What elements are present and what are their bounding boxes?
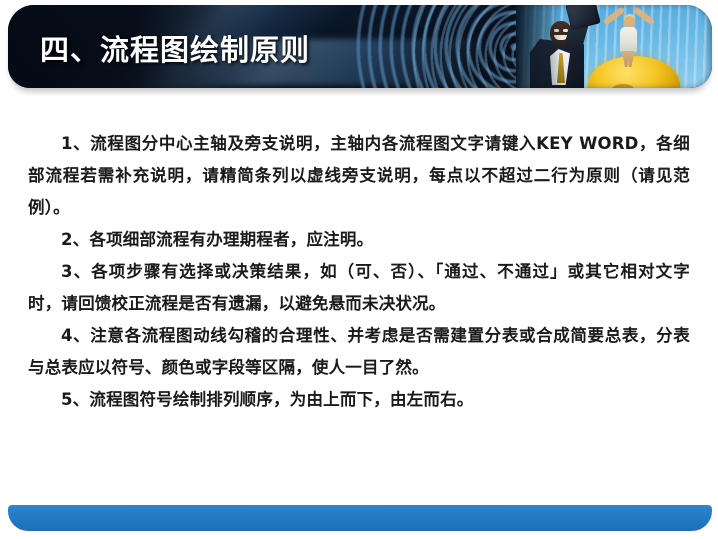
woman-body bbox=[620, 27, 637, 53]
header-photo bbox=[516, 5, 712, 88]
slide-body: 1、流程图分中心主轴及旁支说明，主轴内各流程图文字请键入KEY WORD，各细部… bbox=[28, 128, 690, 416]
bullet-point-4: 4、注意各流程图动线勾稽的合理性、并考虑是否需建置分表或合成简要总表，分表与总表… bbox=[28, 320, 690, 384]
presentation-slide: 四、流程图绘制原则 1、流程图分中心主轴及旁支说明，主轴内各流程图文字请键入KE… bbox=[0, 0, 718, 539]
bullet-point-3: 3、各项步骤有选择或决策结果，如（可、否）、「通过、不通过」或其它相对文字时，请… bbox=[28, 256, 690, 320]
slide-title: 四、流程图绘制原则 bbox=[40, 27, 310, 69]
bullet-point-5: 5、流程图符号绘制排列顺序，为由上而下，由左而右。 bbox=[28, 384, 690, 416]
slide-footer-bar bbox=[8, 505, 712, 531]
bullet-point-2: 2、各项细部流程有办理期程者，应注明。 bbox=[28, 224, 690, 256]
bullet-point-1: 1、流程图分中心主轴及旁支说明，主轴内各流程图文字请键入KEY WORD，各细部… bbox=[28, 128, 690, 224]
photo-left-fade bbox=[516, 5, 562, 88]
globe-highlight bbox=[612, 84, 634, 88]
slide-header-banner: 四、流程图绘制原则 bbox=[8, 5, 712, 88]
